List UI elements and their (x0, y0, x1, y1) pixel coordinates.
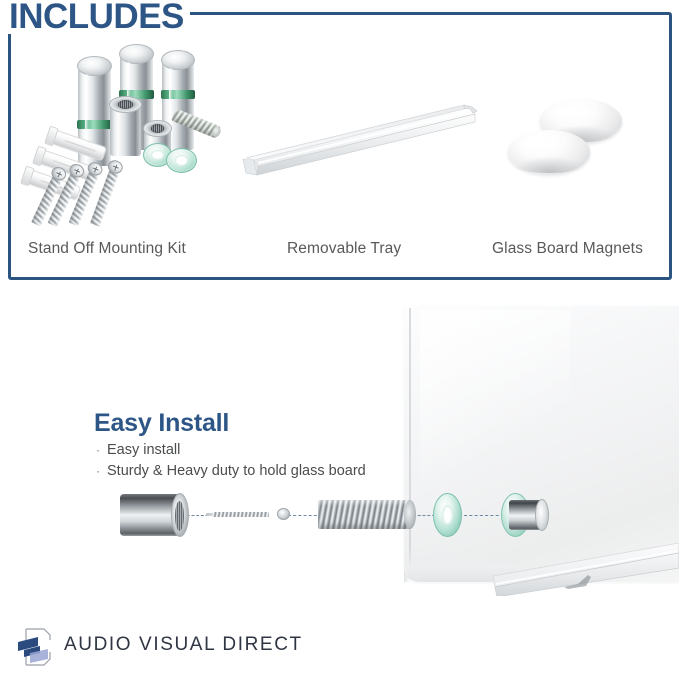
brand-name: AUDIO VISUAL DIRECT (64, 634, 303, 656)
logo-mark-icon (16, 626, 60, 668)
list-item: · Easy install (96, 440, 426, 461)
brand-logo: AUDIO VISUAL DIRECT (16, 626, 256, 668)
easy-install-title: Easy Install (94, 409, 229, 438)
connector-dash (288, 515, 322, 516)
connector-dash (464, 515, 504, 516)
threaded-rod (318, 500, 411, 529)
removable-tray-image (232, 96, 484, 180)
standoff-socket (110, 96, 141, 156)
list-item-text: Sturdy & Heavy duty to hold glass board (107, 461, 366, 482)
chrome-cap (509, 500, 545, 532)
list-item: · Sturdy & Heavy duty to hold glass boar… (96, 461, 426, 482)
chrome-barrel (120, 494, 182, 536)
list-item-text: Easy install (107, 440, 180, 461)
standoff-mounting-kit-image (14, 40, 230, 230)
page-title: INCLUDES (9, 0, 184, 39)
exploded-standoff-assembly (120, 488, 540, 546)
mounting-screw (213, 508, 290, 520)
easy-install-bullet-list: · Easy install · Sturdy & Heavy duty to … (96, 440, 426, 482)
label-standoff-mounting-kit: Stand Off Mounting Kit (28, 240, 186, 258)
green-washer (166, 148, 197, 173)
label-removable-tray: Removable Tray (287, 240, 401, 258)
bullet-glyph: · (96, 461, 100, 482)
label-glass-board-magnets: Glass Board Magnets (492, 240, 643, 258)
bullet-glyph: · (96, 440, 100, 461)
tray-svg (232, 96, 484, 180)
infographic-canvas: INCLUDES (0, 0, 679, 672)
green-washer-front (433, 493, 462, 537)
magnet-dome (508, 130, 590, 174)
